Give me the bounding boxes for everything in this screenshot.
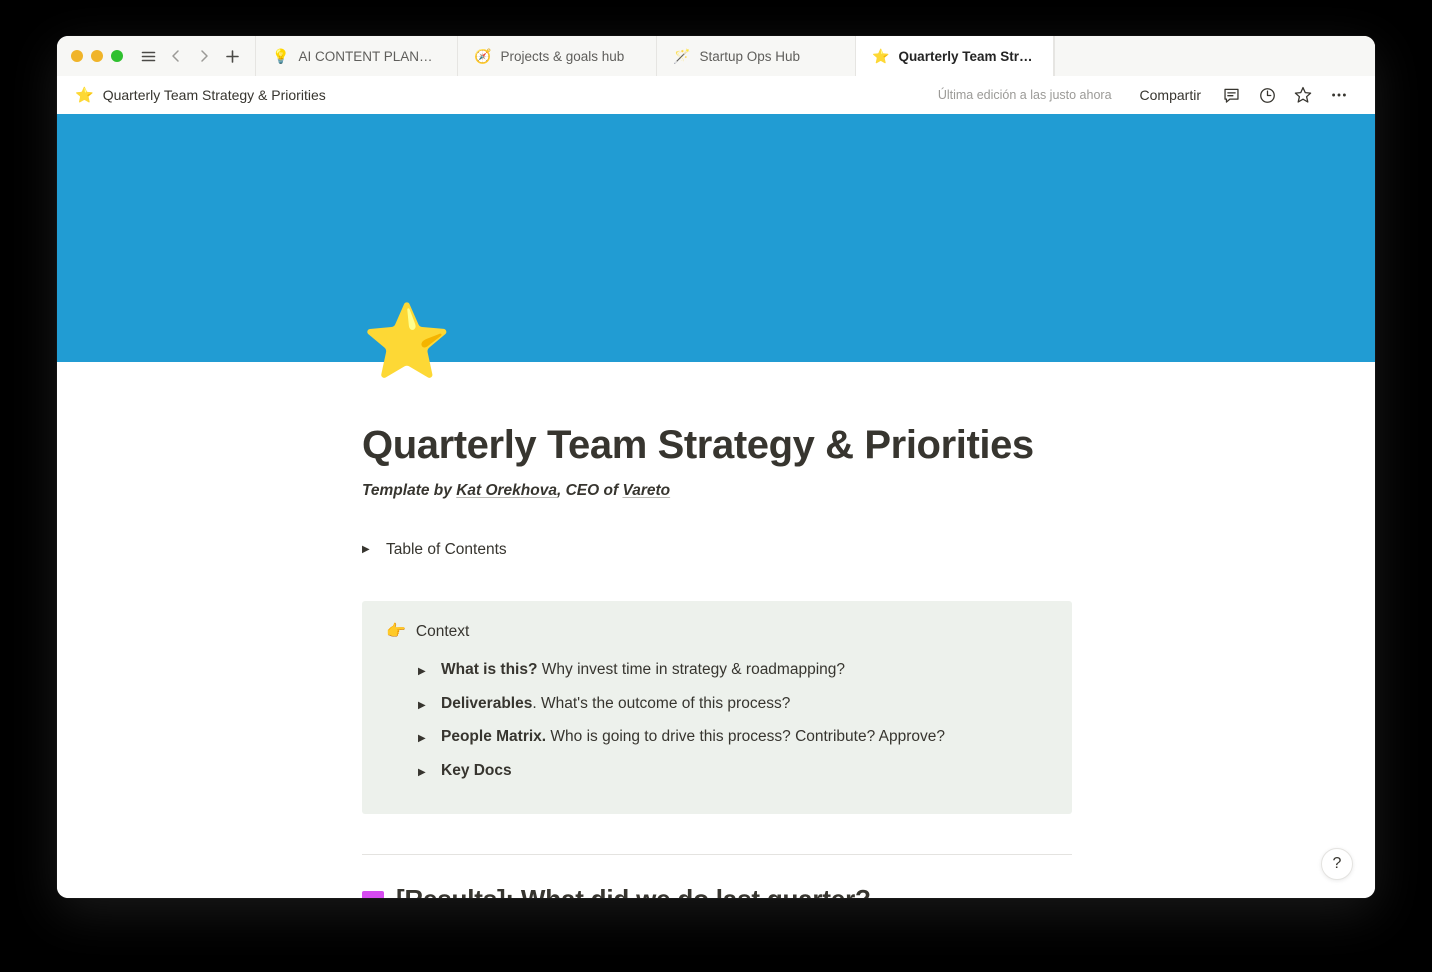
magic-wand-icon: 🪄 [673, 49, 690, 63]
toggle-label: Key Docs [441, 762, 512, 779]
toggle-description: Who is going to drive this process? Cont… [546, 728, 945, 745]
toggle-text: People Matrix. Who is going to drive thi… [441, 726, 945, 748]
document-page: ⭐ Quarterly Team Strategy & Priorities T… [57, 114, 1375, 898]
toolbar-actions: Última edición a las justo ahora Compart… [938, 81, 1353, 109]
close-window-button[interactable] [71, 50, 83, 62]
comment-icon[interactable] [1217, 81, 1245, 109]
nav-buttons [135, 36, 255, 76]
toggle-text: Key Docs [441, 760, 512, 782]
byline-author-link[interactable]: Kat Orekhova [456, 482, 557, 499]
browser-window: 💡 AI CONTENT PLANNI... 🧭 Projects & goal… [57, 36, 1375, 898]
purple-square-icon [362, 891, 384, 898]
star-icon: ⭐ [872, 49, 889, 63]
toggle-text: Deliverables. What's the outcome of this… [441, 693, 790, 715]
toggle-description: Why invest time in strategy & roadmappin… [537, 661, 845, 678]
last-edited-status: Última edición a las justo ahora [938, 88, 1112, 102]
tab-label: Startup Ops Hub [699, 49, 800, 64]
back-chevron-icon[interactable] [163, 43, 189, 69]
tab-bar: 💡 AI CONTENT PLANNI... 🧭 Projects & goal… [57, 36, 1375, 76]
zoom-window-button[interactable] [111, 50, 123, 62]
tab-label: Projects & goals hub [500, 49, 624, 64]
star-icon: ⭐ [75, 88, 94, 103]
section-heading-text: [Results]: What did we do last quarter? [396, 884, 871, 898]
more-options-icon[interactable] [1325, 81, 1353, 109]
tab-strip: 💡 AI CONTENT PLANNI... 🧭 Projects & goal… [255, 36, 1375, 76]
new-tab-plus-icon[interactable] [219, 43, 245, 69]
chevron-right-icon[interactable]: ▶ [418, 667, 428, 677]
page-content: ⭐ Quarterly Team Strategy & Priorities T… [57, 114, 1375, 898]
toggle-what-is-this[interactable]: ▶ What is this? Why invest time in strat… [418, 653, 1048, 687]
table-of-contents-toggle[interactable]: ▶ Table of Contents [362, 541, 1275, 559]
compass-icon: 🧭 [474, 49, 491, 63]
toggle-key-docs[interactable]: ▶ Key Docs [418, 754, 1048, 788]
forward-chevron-icon[interactable] [191, 43, 217, 69]
callout-title: Context [416, 623, 469, 641]
chevron-right-icon[interactable]: ▶ [418, 734, 428, 744]
byline-company-link[interactable]: Vareto [622, 482, 670, 499]
tab-quarterly-team-strategy[interactable]: ⭐ Quarterly Team Strat... [855, 36, 1054, 76]
byline-middle: , CEO of [557, 482, 622, 499]
callout-toggle-list: ▶ What is this? Why invest time in strat… [386, 653, 1048, 788]
sidebar-toggle-icon[interactable] [135, 43, 161, 69]
context-callout: 👉 Context ▶ What is this? Why invest tim… [362, 601, 1072, 814]
star-outline-icon[interactable] [1289, 81, 1317, 109]
document-toolbar: ⭐ Quarterly Team Strategy & Priorities Ú… [57, 76, 1375, 114]
history-clock-icon[interactable] [1253, 81, 1281, 109]
toggle-label: People Matrix. [441, 728, 546, 745]
byline-prefix: Template by [362, 482, 456, 499]
minimize-window-button[interactable] [91, 50, 103, 62]
breadcrumb-title: Quarterly Team Strategy & Priorities [103, 87, 326, 103]
tab-label: AI CONTENT PLANNI... [298, 49, 441, 64]
tab-strip-empty-area [1054, 36, 1375, 76]
toggle-people-matrix[interactable]: ▶ People Matrix. Who is going to drive t… [418, 720, 1048, 754]
toggle-label: What is this? [441, 661, 537, 678]
tab-projects-goals-hub[interactable]: 🧭 Projects & goals hub [457, 36, 656, 76]
page-title[interactable]: Quarterly Team Strategy & Priorities [362, 422, 1275, 468]
callout-header: 👉 Context [386, 623, 1048, 641]
toggle-description: . What's the outcome of this process? [532, 695, 790, 712]
share-button[interactable]: Compartir [1132, 83, 1209, 107]
chevron-right-icon[interactable]: ▶ [362, 545, 372, 555]
toc-label: Table of Contents [386, 541, 507, 559]
toggle-deliverables[interactable]: ▶ Deliverables. What's the outcome of th… [418, 687, 1048, 721]
chevron-right-icon[interactable]: ▶ [418, 701, 428, 711]
tab-ai-content-planning[interactable]: 💡 AI CONTENT PLANNI... [255, 36, 457, 76]
window-controls [57, 36, 135, 76]
byline: Template by Kat Orekhova, CEO of Vareto [362, 482, 1275, 500]
lightbulb-icon: 💡 [272, 49, 289, 63]
section-heading-results[interactable]: [Results]: What did we do last quarter? [362, 884, 1275, 898]
help-button[interactable]: ? [1321, 848, 1353, 880]
tab-startup-ops-hub[interactable]: 🪄 Startup Ops Hub [656, 36, 855, 76]
section-divider [362, 854, 1072, 855]
pointing-hand-icon: 👉 [386, 624, 406, 640]
chevron-right-icon[interactable]: ▶ [418, 768, 428, 778]
page-icon[interactable]: ⭐ [362, 306, 1275, 386]
tab-label: Quarterly Team Strat... [898, 49, 1037, 64]
toggle-label: Deliverables [441, 695, 532, 712]
breadcrumb[interactable]: ⭐ Quarterly Team Strategy & Priorities [75, 87, 326, 103]
screen-root: 💡 AI CONTENT PLANNI... 🧭 Projects & goal… [0, 0, 1432, 972]
toggle-text: What is this? Why invest time in strateg… [441, 659, 845, 681]
